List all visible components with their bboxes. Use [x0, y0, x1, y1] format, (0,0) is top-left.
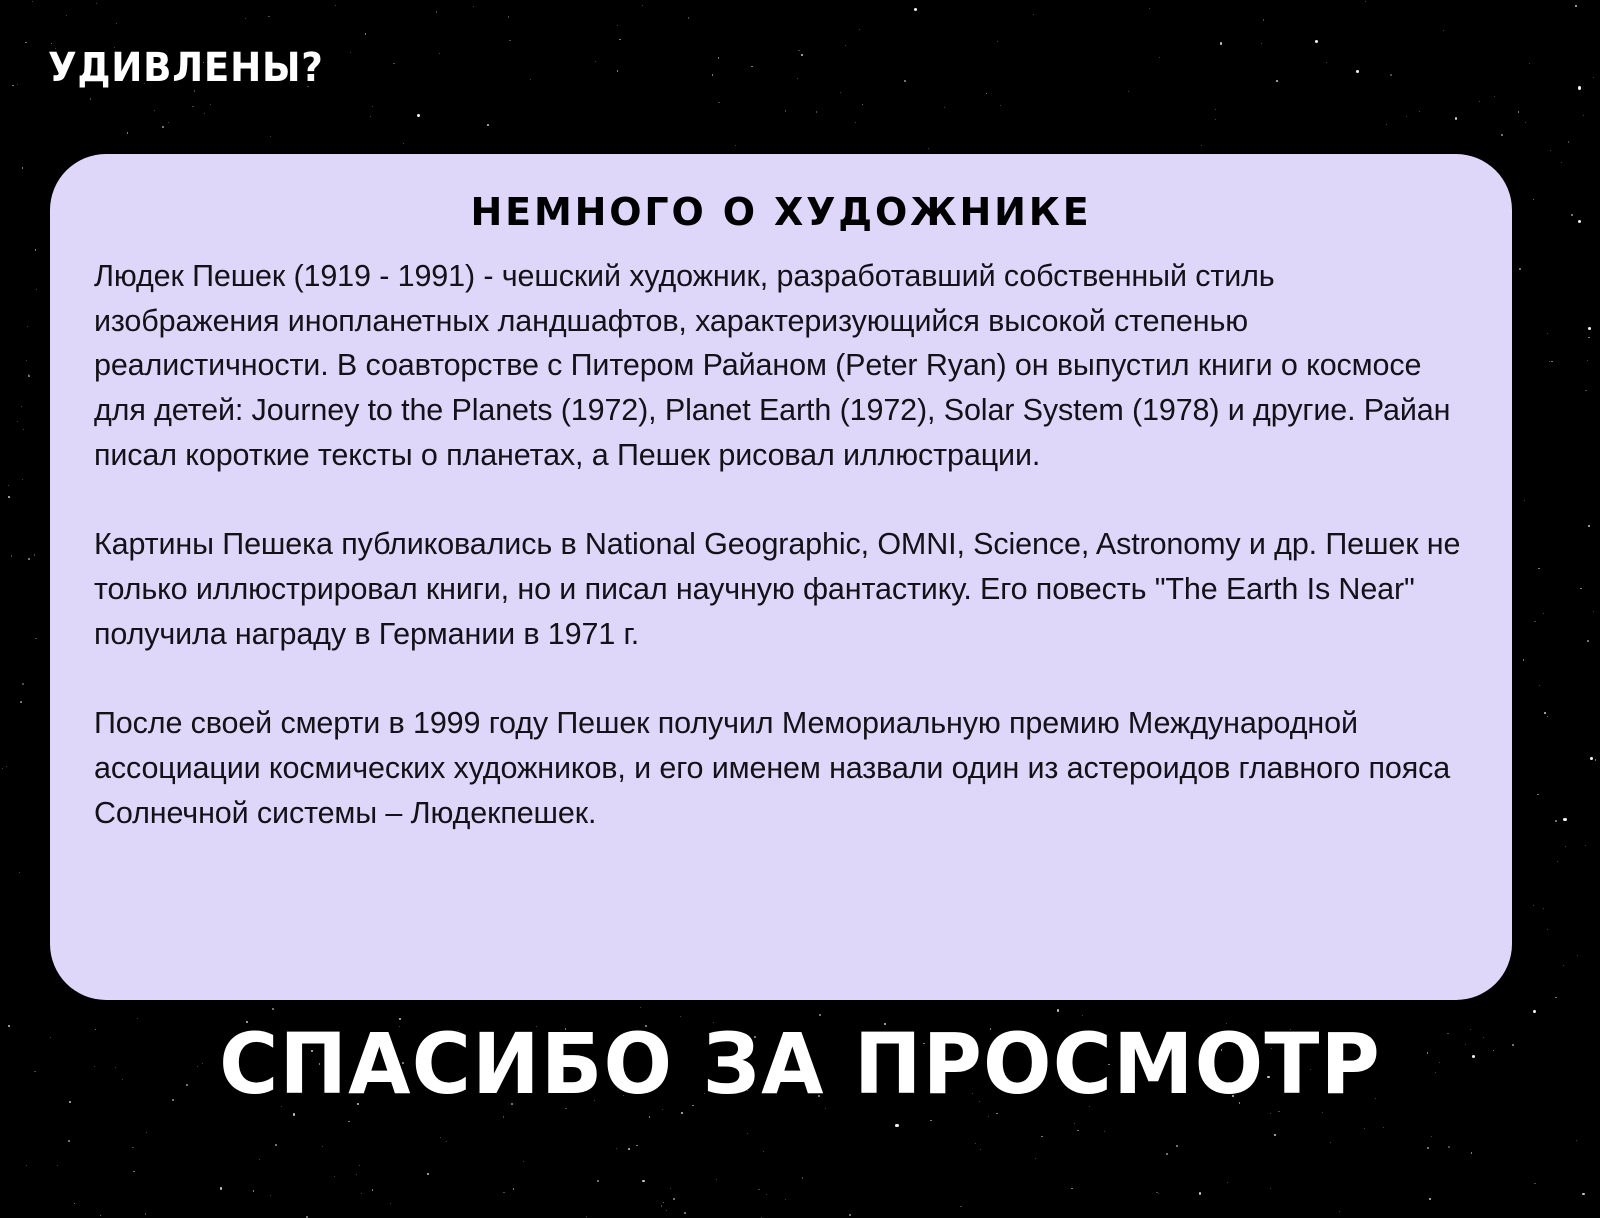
star-dot — [436, 11, 437, 12]
star-dot — [440, 1137, 441, 1138]
star-dot — [1519, 268, 1521, 270]
star-dot — [268, 16, 269, 17]
star-dot — [427, 1173, 429, 1175]
star-dot — [28, 374, 29, 375]
star-dot — [1215, 119, 1216, 120]
artist-info-card: НЕМНОГО О ХУДОЖНИКЕ Людек Пешек (1919 - … — [50, 154, 1512, 1000]
star-dot — [1587, 360, 1588, 361]
star-dot — [162, 126, 164, 128]
star-dot — [487, 124, 489, 126]
star-dot — [1533, 905, 1534, 906]
star-dot — [21, 406, 22, 407]
star-dot — [8, 1025, 10, 1027]
star-dot — [133, 1171, 135, 1173]
star-dot — [960, 1206, 961, 1207]
star-dot — [1590, 757, 1593, 760]
star-dot — [1555, 820, 1557, 822]
star-dot — [1543, 613, 1544, 614]
star-dot — [1578, 220, 1581, 223]
star-dot — [272, 1008, 274, 1010]
star-dot — [1220, 42, 1222, 44]
star-dot — [1538, 568, 1540, 570]
star-dot — [1565, 846, 1566, 847]
star-dot — [1588, 327, 1591, 330]
star-dot — [293, 1113, 295, 1115]
star-dot — [1593, 77, 1594, 78]
star-dot — [1537, 794, 1539, 796]
star-dot — [1582, 1193, 1584, 1195]
star-dot — [914, 8, 917, 11]
star-dot — [17, 84, 18, 85]
star-dot — [1576, 1140, 1577, 1141]
card-title: НЕМНОГО О ХУДОЖНИКЕ — [94, 192, 1468, 234]
star-dot — [1551, 361, 1553, 363]
star-dot — [1431, 1136, 1432, 1137]
star-dot — [1000, 105, 1001, 106]
star-dot — [1588, 337, 1590, 339]
star-dot — [90, 98, 91, 99]
star-dot — [253, 1190, 255, 1192]
star-dot — [393, 63, 394, 64]
star-dot — [758, 1189, 759, 1190]
star-dot — [1539, 685, 1540, 686]
star-dot — [1533, 1010, 1536, 1013]
star-dot — [19, 872, 20, 873]
star-dot — [718, 57, 720, 59]
star-dot — [245, 18, 246, 19]
paragraph-3: После своей смерти в 1999 году Пешек пол… — [94, 701, 1468, 835]
star-dot — [32, 1, 33, 2]
star-dot — [1156, 1192, 1157, 1193]
star-dot — [25, 42, 27, 44]
star-dot — [1315, 40, 1318, 43]
star-dot — [334, 1176, 335, 1177]
star-dot — [862, 104, 864, 106]
star-dot — [1575, 5, 1577, 7]
star-dot — [849, 1214, 851, 1216]
star-dot — [28, 375, 30, 377]
star-dot — [1071, 1188, 1073, 1190]
star-dot — [798, 50, 799, 51]
star-dot — [1534, 621, 1535, 622]
star-dot — [1429, 1198, 1431, 1200]
star-dot — [1263, 19, 1264, 20]
star-dot — [1077, 1130, 1079, 1132]
star-dot — [1274, 1134, 1276, 1136]
star-dot — [670, 1188, 671, 1189]
star-dot — [1339, 1211, 1340, 1212]
star-dot — [66, 15, 67, 16]
star-dot — [508, 16, 509, 17]
star-dot — [1549, 361, 1550, 362]
star-dot — [1557, 861, 1558, 862]
star-dot — [1518, 111, 1520, 113]
star-dot — [513, 1188, 515, 1190]
star-dot — [801, 54, 803, 56]
star-dot — [1550, 150, 1551, 151]
star-dot — [1128, 91, 1129, 92]
slide-root: УДИВЛЕНЫ? НЕМНОГО О ХУДОЖНИКЕ Людек Пеше… — [0, 0, 1600, 1218]
star-dot — [663, 1202, 665, 1204]
star-dot — [22, 479, 23, 480]
star-dot — [980, 1149, 981, 1150]
star-dot — [100, 1215, 102, 1217]
star-dot — [20, 701, 22, 703]
star-dot — [1563, 965, 1564, 966]
star-dot — [666, 1210, 667, 1211]
star-dot — [649, 1116, 651, 1118]
star-dot — [1593, 611, 1594, 612]
star-dot — [996, 1113, 998, 1115]
star-dot — [928, 148, 929, 149]
star-dot — [509, 40, 510, 41]
star-dot — [1580, 588, 1582, 590]
star-dot — [1547, 716, 1549, 718]
star-dot — [154, 110, 155, 111]
star-dot — [1158, 1193, 1159, 1194]
star-dot — [1448, 1146, 1449, 1147]
star-dot — [1479, 101, 1480, 102]
star-dot — [96, 3, 97, 4]
star-dot — [137, 1018, 138, 1019]
star-dot — [192, 106, 193, 107]
star-dot — [1523, 659, 1525, 661]
star-dot — [2, 768, 3, 769]
star-dot — [1525, 122, 1526, 123]
star-dot — [348, 1121, 350, 1123]
star-dot — [1583, 115, 1584, 116]
star-dot — [1041, 1136, 1043, 1138]
star-dot — [372, 106, 373, 107]
star-dot — [845, 45, 846, 46]
star-dot — [34, 554, 35, 555]
star-dot — [350, 52, 351, 53]
star-dot — [335, 5, 336, 6]
star-dot — [22, 167, 24, 169]
star-dot — [1524, 500, 1525, 501]
star-dot — [1035, 1158, 1036, 1159]
star-dot — [503, 1116, 504, 1117]
star-dot — [1199, 1192, 1201, 1194]
star-dot — [11, 555, 12, 556]
paragraph-2: Картины Пешека публиковались в National … — [94, 522, 1468, 656]
star-dot — [127, 132, 129, 134]
star-dot — [1543, 908, 1544, 909]
star-dot — [1547, 929, 1548, 930]
star-dot — [785, 110, 786, 111]
star-dot — [747, 1133, 748, 1134]
star-dot — [636, 1145, 638, 1147]
star-dot — [35, 249, 37, 251]
star-dot — [306, 1216, 308, 1218]
star-dot — [17, 421, 18, 422]
star-dot — [1261, 43, 1262, 44]
star-dot — [322, 1146, 323, 1147]
star-dot — [1534, 1183, 1535, 1184]
star-dot — [1176, 1145, 1178, 1147]
star-dot — [1585, 845, 1586, 846]
star-dot — [1443, 30, 1444, 31]
star-dot — [1057, 1009, 1059, 1011]
star-dot — [785, 1199, 786, 1200]
star-dot — [168, 122, 169, 123]
star-dot — [1501, 134, 1503, 136]
star-dot — [275, 1144, 277, 1146]
paragraph-1: Людек Пешек (1919 - 1991) - чешский худо… — [94, 254, 1468, 478]
star-dot — [12, 85, 14, 87]
star-dot — [503, 1192, 504, 1193]
star-dot — [1585, 390, 1586, 391]
star-dot — [617, 70, 619, 72]
star-dot — [597, 1180, 599, 1182]
star-dot — [1563, 818, 1566, 821]
star-dot — [132, 1147, 133, 1148]
star-dot — [688, 17, 689, 18]
star-dot — [1276, 80, 1278, 82]
star-dot — [595, 61, 596, 62]
star-dot — [1533, 199, 1535, 201]
star-dot — [74, 1203, 76, 1205]
star-dot — [751, 66, 753, 68]
star-dot — [1270, 1188, 1271, 1189]
star-dot — [26, 360, 27, 361]
star-dot — [797, 78, 798, 79]
star-dot — [1201, 145, 1202, 146]
star-dot — [642, 5, 643, 6]
star-dot — [1419, 111, 1420, 112]
footer-thanks: СПАСИБО ЗА ПРОСМОТР — [32, 1022, 1568, 1106]
star-dot — [35, 638, 36, 639]
star-dot — [1364, 1128, 1365, 1129]
star-dot — [1595, 759, 1597, 761]
star-dot — [6, 766, 7, 767]
star-dot — [1390, 74, 1391, 75]
star-dot — [1494, 96, 1495, 97]
star-dot — [27, 326, 28, 327]
star-dot — [270, 136, 271, 137]
star-dot — [1568, 141, 1569, 142]
star-dot — [359, 1165, 360, 1166]
star-dot — [1471, 1152, 1473, 1154]
star-dot — [8, 496, 10, 498]
star-dot — [712, 74, 714, 76]
star-dot — [1529, 63, 1530, 64]
star-dot — [997, 41, 998, 42]
star-dot — [22, 683, 23, 684]
star-dot — [859, 29, 860, 30]
star-dot — [530, 79, 531, 80]
star-dot — [975, 1143, 976, 1144]
star-dot — [1326, 62, 1327, 63]
star-dot — [365, 33, 367, 35]
star-dot — [1577, 955, 1578, 956]
star-dot — [988, 1116, 989, 1117]
star-dot — [1033, 14, 1034, 15]
star-dot — [270, 1195, 271, 1196]
star-dot — [944, 107, 945, 108]
star-dot — [1365, 1, 1366, 2]
star-dot — [23, 429, 24, 430]
star-dot — [1227, 1182, 1228, 1183]
star-dot — [8, 485, 9, 486]
star-dot — [26, 1165, 27, 1166]
star-dot — [1544, 712, 1546, 714]
star-dot — [1561, 162, 1562, 163]
star-dot — [361, 1193, 362, 1194]
star-dot — [816, 111, 817, 112]
star-dot — [840, 92, 841, 93]
star-dot — [1104, 1131, 1105, 1132]
star-dot — [673, 1198, 675, 1200]
star-dot — [930, 1120, 932, 1122]
star-dot — [586, 1216, 587, 1217]
star-dot — [370, 116, 371, 117]
star-dot — [403, 143, 404, 144]
star-dot — [259, 1159, 260, 1160]
star-dot — [616, 1148, 617, 1149]
star-dot — [619, 39, 621, 41]
star-dot — [146, 1132, 147, 1133]
star-dot — [895, 1124, 898, 1127]
star-dot — [1555, 997, 1557, 999]
star-dot — [661, 1205, 662, 1206]
star-dot — [439, 53, 440, 54]
star-dot — [220, 1187, 222, 1189]
star-dot — [1074, 1123, 1075, 1124]
star-dot — [716, 1179, 717, 1180]
star-dot — [36, 289, 37, 290]
star-dot — [1215, 109, 1216, 110]
star-dot — [356, 1174, 357, 1175]
card-body: Людек Пешек (1919 - 1991) - чешский худо… — [94, 254, 1468, 836]
star-dot — [1356, 70, 1359, 73]
star-dot — [1571, 214, 1573, 216]
kicker-heading: УДИВЛЕНЫ? — [48, 48, 324, 88]
star-dot — [1383, 1127, 1384, 1128]
star-dot — [684, 1212, 686, 1214]
star-dot — [1578, 86, 1581, 89]
star-dot — [718, 102, 719, 103]
star-dot — [1587, 640, 1589, 642]
star-dot — [28, 558, 30, 560]
star-dot — [68, 1140, 70, 1142]
star-dot — [1547, 333, 1548, 334]
star-dot — [640, 1007, 641, 1008]
star-dot — [473, 6, 474, 7]
star-dot — [1588, 525, 1590, 527]
star-dot — [1455, 117, 1457, 119]
star-dot — [446, 1141, 447, 1142]
star-dot — [986, 93, 988, 95]
star-dot — [210, 104, 211, 105]
star-dot — [1427, 1147, 1429, 1149]
star-dot — [1166, 1153, 1168, 1155]
star-dot — [1149, 8, 1150, 9]
star-dot — [735, 145, 736, 146]
star-dot — [372, 1189, 374, 1191]
star-dot — [628, 1148, 630, 1150]
star-dot — [57, 1165, 58, 1166]
star-dot — [116, 23, 117, 24]
star-dot — [904, 80, 906, 82]
star-dot — [1386, 124, 1387, 125]
star-dot — [763, 1151, 764, 1152]
star-dot — [523, 1161, 524, 1162]
star-dot — [617, 25, 618, 26]
star-dot — [204, 113, 205, 114]
star-dot — [145, 1213, 146, 1214]
star-dot — [855, 122, 856, 123]
star-dot — [766, 1194, 767, 1195]
star-dot — [1159, 57, 1160, 58]
star-dot — [802, 1177, 803, 1178]
star-dot — [417, 114, 420, 117]
star-dot — [1330, 1142, 1331, 1143]
star-dot — [1406, 116, 1407, 117]
star-dot — [390, 1203, 391, 1204]
star-dot — [642, 1180, 644, 1182]
